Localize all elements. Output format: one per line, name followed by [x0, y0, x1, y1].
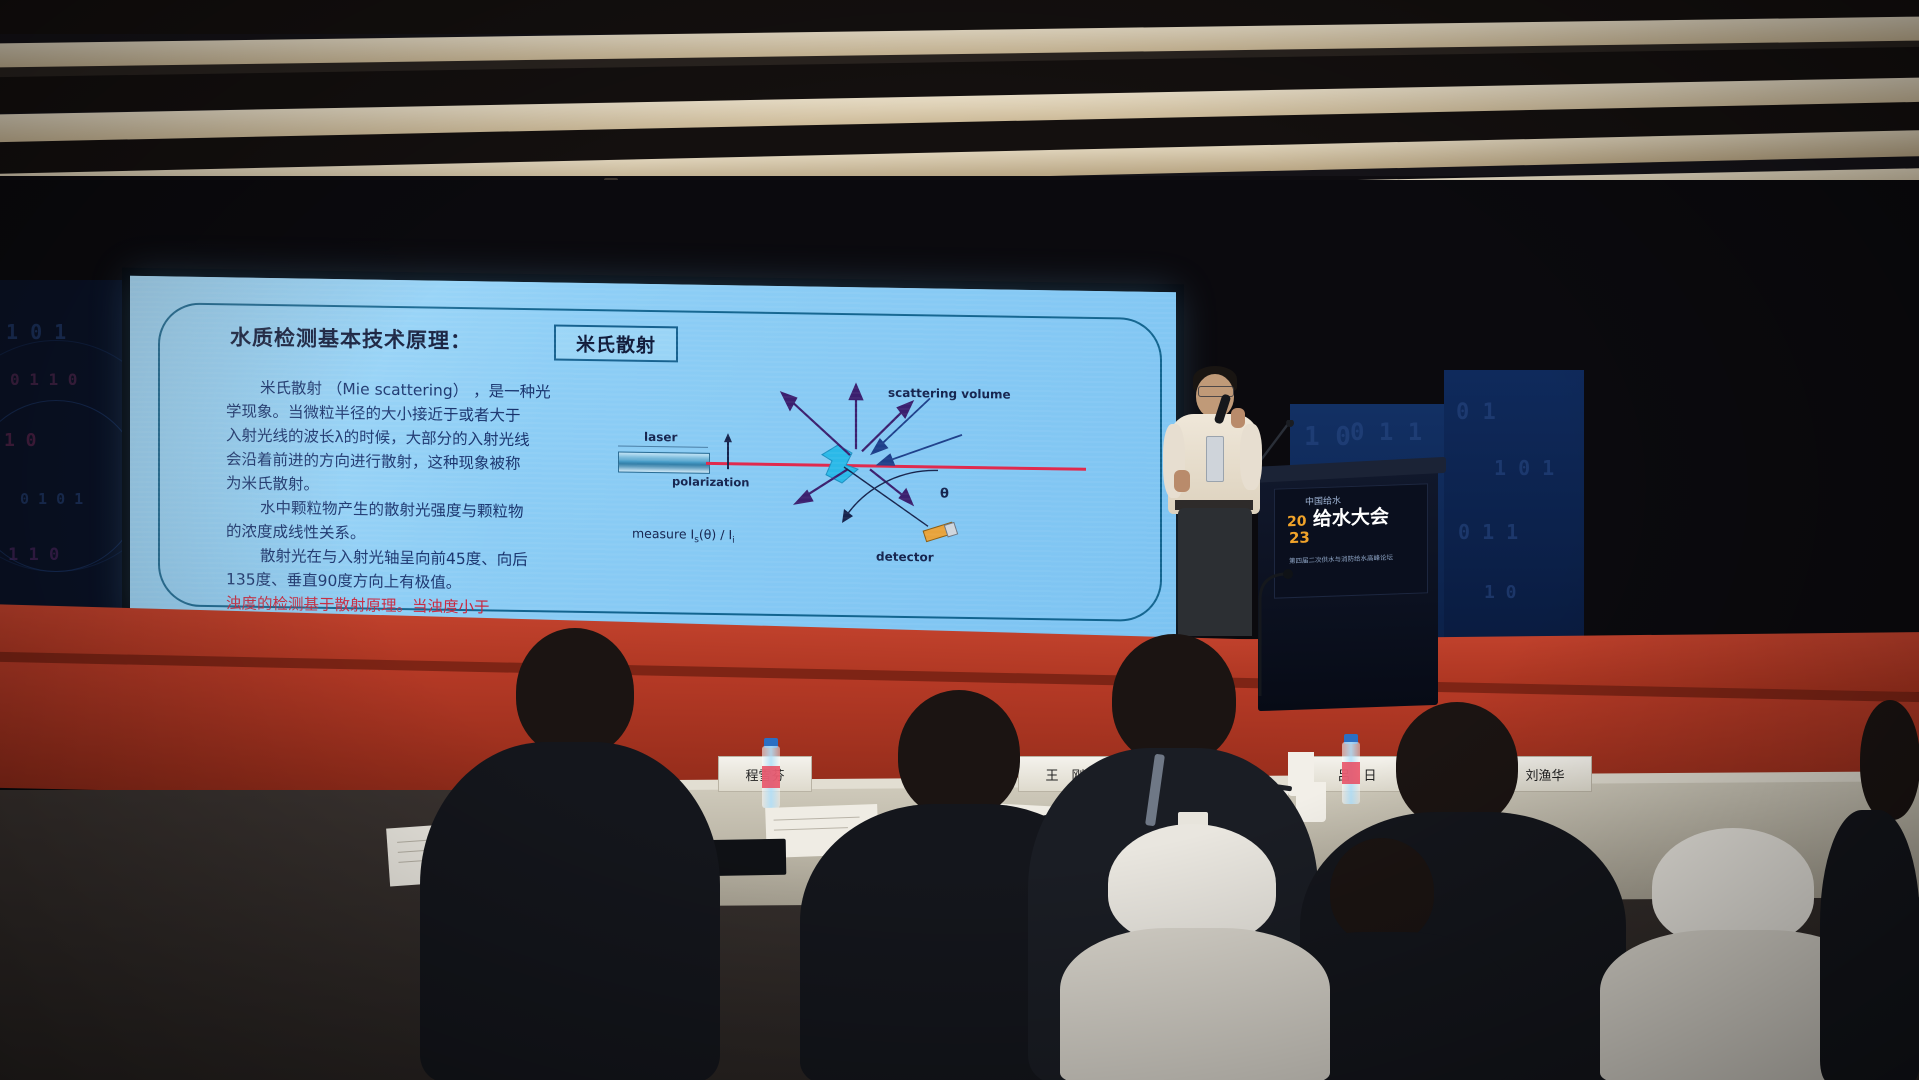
detector-label: detector — [876, 550, 934, 565]
speaker-left-hand — [1174, 470, 1190, 492]
measure-sub2: i — [732, 536, 735, 546]
podium-logo-year-b: 23 — [1289, 528, 1310, 547]
measure-arg: (θ) / I — [699, 527, 732, 543]
podium-logo-title: 给水大会 — [1313, 506, 1389, 531]
measure-formula: measure Is(θ) / Ii — [632, 526, 735, 546]
slide-body-line-5: 水中颗粒物产生的散射光强度与颗粒物 — [260, 496, 524, 522]
slide-body-line-1: 学现象。当微粒半径的大小接近于或者大于 — [226, 399, 521, 426]
speaker-right-hand — [1231, 408, 1245, 428]
slide-body-line-8: 135度、垂直90度方向上有极值。 — [226, 567, 461, 593]
nameplate-4-label: 刘渔华 — [1525, 765, 1564, 784]
detector-icon — [920, 518, 964, 547]
gooseneck-microphone-icon — [1240, 560, 1320, 700]
slide-tag-label: 米氏散射 — [576, 329, 656, 357]
slide-body-line-7: 散射光在与入射光轴呈向前45度、向后 — [260, 544, 528, 570]
right-wall-panel-2: 0 1 1 0 1 0 1 1 1 0 — [1444, 370, 1584, 670]
slide-body-line-3: 会沿着前进的方向进行散射，这种现象被称 — [226, 447, 521, 474]
left-wall-panel: 1 0 1 0 1 1 0 1 0 0 1 0 1 1 1 0 — [0, 280, 140, 630]
slide-title: 水质检测基本技术原理： — [230, 321, 472, 355]
speaker-badge — [1206, 436, 1224, 482]
slide-tag-box: 米氏散射 — [554, 324, 678, 362]
slide-body-line-4: 为米氏散射。 — [226, 471, 319, 494]
speaker-right-arm — [1240, 424, 1262, 490]
measure-text: measure I — [632, 526, 694, 542]
laser-label: laser — [644, 430, 677, 445]
scattering-volume-label: scattering volume — [888, 386, 1011, 402]
projection-screen: 水质检测基本技术原理： 米氏散射 米氏散射 （Mie scattering） ，… — [130, 276, 1176, 640]
mie-scattering-diagram: laser polarization — [610, 373, 1150, 601]
laser-tube — [618, 451, 710, 473]
slide-body-line-0: 米氏散射 （Mie scattering） ，是一种光 — [260, 376, 551, 403]
slide-body-line-6: 的浓度成线性关系。 — [226, 519, 366, 543]
conference-photo: 1 0 1 0 1 1 0 1 0 0 1 0 1 1 1 0 1 0 0 1 … — [0, 0, 1919, 1080]
